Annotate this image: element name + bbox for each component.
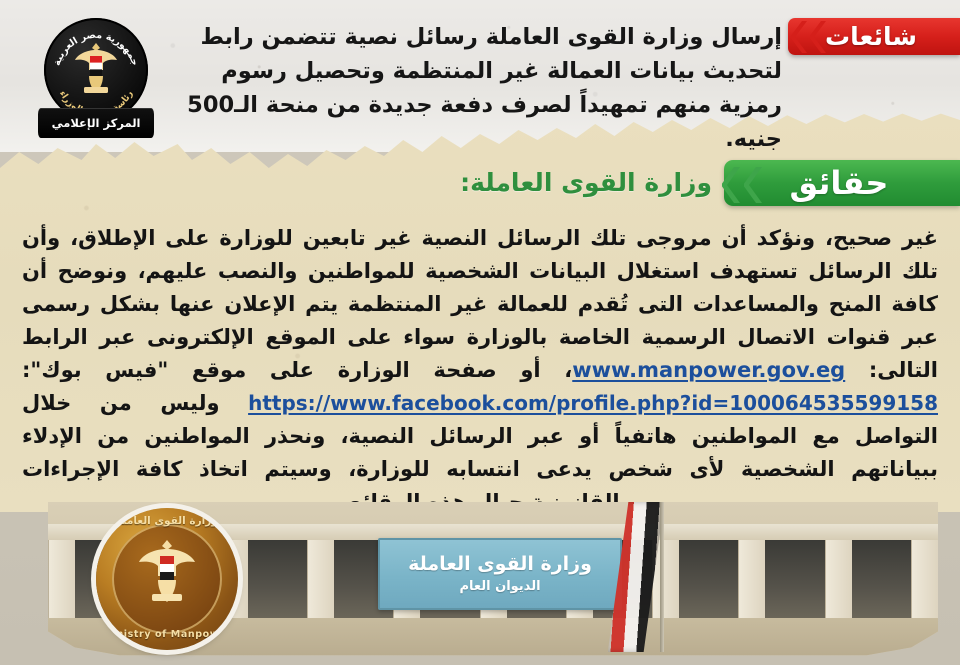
logo-banner: المركز الإعلامي (38, 108, 154, 138)
building-sign: وزارة القوى العاملة الديوان العام (378, 538, 622, 610)
rumor-chevron-icon (791, 20, 828, 54)
flag-pole (660, 502, 664, 652)
egypt-cabinet-media-center-logo: جمهورية مصر العربية رئاسة مجلس الوزراء ا… (36, 14, 156, 140)
ministry-facebook-link[interactable]: https://www.facebook.com/profile.php?id=… (248, 387, 938, 420)
ministry-of-manpower-seal: وزارة القوى العاملة Ministry of Manpower (96, 508, 238, 650)
logo-banner-text: المركز الإعلامي (52, 116, 141, 130)
facts-paragraph-2: ، أو صفحة الوزارة على موقع "فيس بوك": (22, 358, 572, 382)
pillar (738, 540, 765, 618)
fact-check-poster: جمهورية مصر العربية رئاسة مجلس الوزراء ا… (0, 0, 960, 665)
photo-section: وزارة القوى العاملة الديوان العام وزارة … (0, 500, 960, 665)
eagle-of-saladin-icon (73, 40, 119, 96)
facts-chevron-icon (722, 166, 764, 204)
building-sign-line-1: وزارة القوى العاملة (408, 554, 592, 576)
rumor-badge-label: شائعات (825, 24, 917, 49)
pillar (911, 540, 938, 618)
facts-body-text: غير صحيح، ونؤكد أن مروجى تلك الرسائل الن… (22, 222, 938, 519)
pillar (307, 540, 334, 618)
facts-subject: وزارة القوى العاملة: (460, 168, 712, 197)
seal-english-text: Ministry of Manpower (96, 629, 238, 640)
window-gap (765, 540, 824, 618)
seal-arabic-text: وزارة القوى العاملة (96, 515, 238, 527)
eagle-of-saladin-icon (136, 536, 198, 608)
rumor-text: إرسال وزارة القوى العاملة رسائل نصية تتض… (168, 20, 782, 156)
window-gap (852, 540, 911, 618)
window-gap (679, 540, 738, 618)
pillar (825, 540, 852, 618)
ministry-website-link[interactable]: www.manpower.gov.eg (572, 354, 845, 387)
facts-badge-label: حقائق (790, 167, 889, 199)
building-sign-line-2: الديوان العام (459, 579, 540, 594)
window-gap (248, 540, 307, 618)
pillar (48, 540, 75, 618)
